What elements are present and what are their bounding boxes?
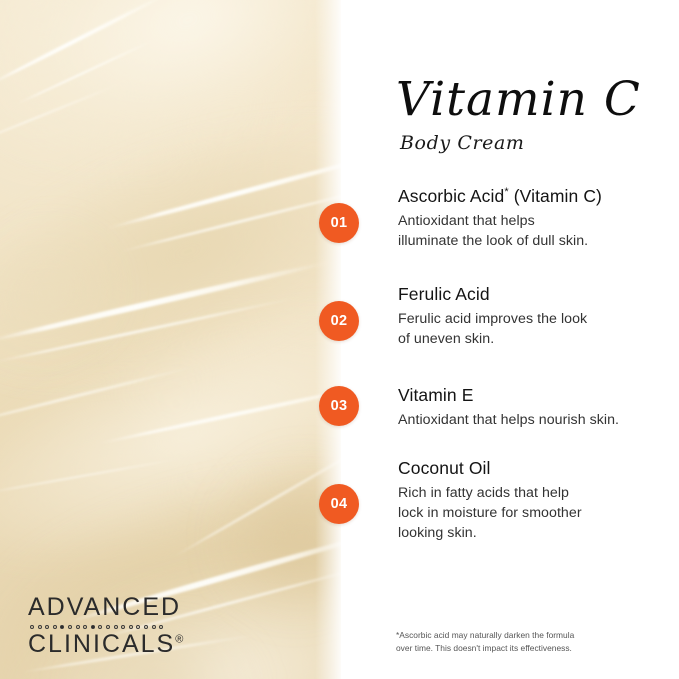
ingredient-item: Coconut OilRich in fatty acids that help… [341,458,679,543]
brand-divider-dot [91,625,95,629]
ingredient-item: Ferulic AcidFerulic acid improves the lo… [341,284,679,349]
brand-name-line-2: CLINICALS® [28,632,183,658]
brand-divider-dot [68,625,72,629]
brand-divider-dot [144,625,148,629]
ingredient-description: Antioxidant that helps nourish skin. [398,410,679,430]
registered-trademark-icon: ® [175,633,183,645]
brand-divider-dot [98,625,102,629]
product-infographic: ADVANCED CLINICALS® Vitamin C Body Cream… [0,0,679,679]
content-panel: Vitamin C Body Cream Ascorbic Acid* (Vit… [341,0,679,679]
ingredient-item: Ascorbic Acid* (Vitamin C)Antioxidant th… [341,186,679,251]
ingredient-name-suffix: (Vitamin C) [509,186,602,206]
footnote-disclaimer: *Ascorbic acid may naturally darken the … [396,629,646,655]
ingredient-name-text: Coconut Oil [398,458,491,478]
brand-divider-dot [106,625,110,629]
ingredient-description: Rich in fatty acids that help lock in mo… [398,483,679,543]
ingredient-number-badge: 03 [319,386,359,426]
ingredient-number-badge: 01 [319,203,359,243]
cream-texture-photo: ADVANCED CLINICALS® [0,0,341,679]
ingredient-number-badge: 02 [319,301,359,341]
ingredient-name: Coconut Oil [398,458,679,479]
brand-divider-dot [83,625,87,629]
product-subtitle: Body Cream [400,132,641,154]
brand-divider-dot [159,625,163,629]
brand-divider-dot [45,625,49,629]
ingredient-name: Ferulic Acid [398,284,679,305]
brand-divider-dot [152,625,156,629]
title-block: Vitamin C Body Cream [396,76,641,154]
brand-divider-dot [30,625,34,629]
ingredient-name: Ascorbic Acid* (Vitamin C) [398,186,679,207]
brand-logo: ADVANCED CLINICALS® [28,595,183,657]
ingredient-name: Vitamin E [398,385,679,406]
ingredient-description: Antioxidant that helps illuminate the lo… [398,211,679,251]
brand-divider-dot [76,625,80,629]
ingredient-name-text: Ascorbic Acid [398,186,504,206]
brand-divider-dot [60,625,64,629]
ingredient-name-text: Ferulic Acid [398,284,490,304]
brand-divider-dot [114,625,118,629]
brand-divider-dot [121,625,125,629]
ingredient-name-text: Vitamin E [398,385,473,405]
brand-divider-dot [136,625,140,629]
brand-name-line-1: ADVANCED [28,595,183,621]
brand-divider-dot [129,625,133,629]
ingredient-item: Vitamin EAntioxidant that helps nourish … [341,385,679,430]
brand-name-line-2-text: CLINICALS [28,630,175,658]
ingredient-number-badge: 04 [319,484,359,524]
ingredient-description: Ferulic acid improves the look of uneven… [398,309,679,349]
product-title: Vitamin C [396,76,641,123]
brand-divider-dot [38,625,42,629]
brand-divider-dot [53,625,57,629]
